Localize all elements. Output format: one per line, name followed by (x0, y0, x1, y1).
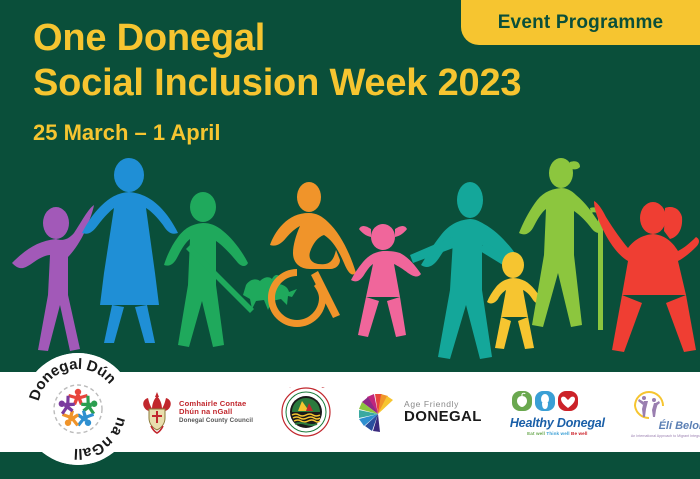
eli-belong-wordmark: Élí Belong (631, 420, 700, 432)
healthy-sub-2: Think well (546, 431, 569, 436)
age-friendly-petals-icon (355, 390, 401, 434)
council-line-2: Dhún na nGall (179, 408, 253, 417)
logo-age-friendly-donegal: Age Friendly DONEGAL (355, 390, 482, 434)
logo-row: Comhairle Contae Dhún na nGall Donegal C… (130, 372, 700, 452)
logo-eli-belong: Élí Belong An International Approach to … (631, 386, 700, 439)
council-crest-icon (140, 390, 174, 434)
healthy-word-1: Healthy (510, 416, 554, 430)
figure-yellow-child (487, 252, 543, 349)
age-friendly-line-2: DONEGAL (404, 409, 482, 424)
title-line-2: Social Inclusion Week 2023 (33, 61, 593, 106)
figure-pink-child (351, 224, 421, 337)
social-inclusion-unit-icon: SOCIAL INCLUSION UNIT (281, 387, 331, 437)
title-line-1: One Donegal (33, 16, 593, 61)
poster-root: Event Programme One Donegal Social Inclu… (0, 0, 700, 479)
eli-belong-tagline: An International Approach to Migrant Int… (631, 434, 700, 439)
healthy-donegal-wordmark: Healthy Donegal (510, 416, 605, 430)
age-friendly-text-block: Age Friendly DONEGAL (404, 400, 482, 424)
event-dates: 25 March – 1 April (33, 120, 593, 146)
figure-blue-dress (82, 158, 178, 343)
council-line-3: Donegal County Council (179, 418, 253, 425)
logo-donegal-county-council: Comhairle Contae Dhún na nGall Donegal C… (140, 390, 253, 434)
council-text-block: Comhairle Contae Dhún na nGall Donegal C… (179, 400, 253, 425)
headline-block: One Donegal Social Inclusion Week 2023 2… (33, 16, 593, 146)
healthy-sub-3: Be well (571, 431, 588, 436)
figure-lightgreen-walking-stick (519, 158, 603, 327)
logo-donegal-dun-na-ngall: Donegal Dún na nGall (22, 353, 134, 465)
logo-healthy-donegal: Healthy Donegal Eat well Think well Be w… (510, 389, 605, 436)
logo-social-inclusion-unit: SOCIAL INCLUSION UNIT (281, 387, 331, 437)
illustration-figures (0, 145, 700, 360)
figure-orange-wheelchair-user (268, 182, 356, 327)
healthy-donegal-icons (510, 389, 580, 415)
donegal-roundel-icon: Donegal Dún na nGall (22, 353, 134, 465)
healthy-word-2: Donegal (557, 416, 605, 430)
eli-belong-icon (631, 386, 695, 420)
healthy-donegal-tagline: Eat well Think well Be well (510, 431, 605, 436)
figure-red-woman-arm-raised (594, 201, 699, 352)
healthy-sub-1: Eat well (527, 431, 545, 436)
figure-purple-arms-raised (12, 205, 94, 351)
figure-green-cane-with-guide-dog (164, 192, 254, 347)
